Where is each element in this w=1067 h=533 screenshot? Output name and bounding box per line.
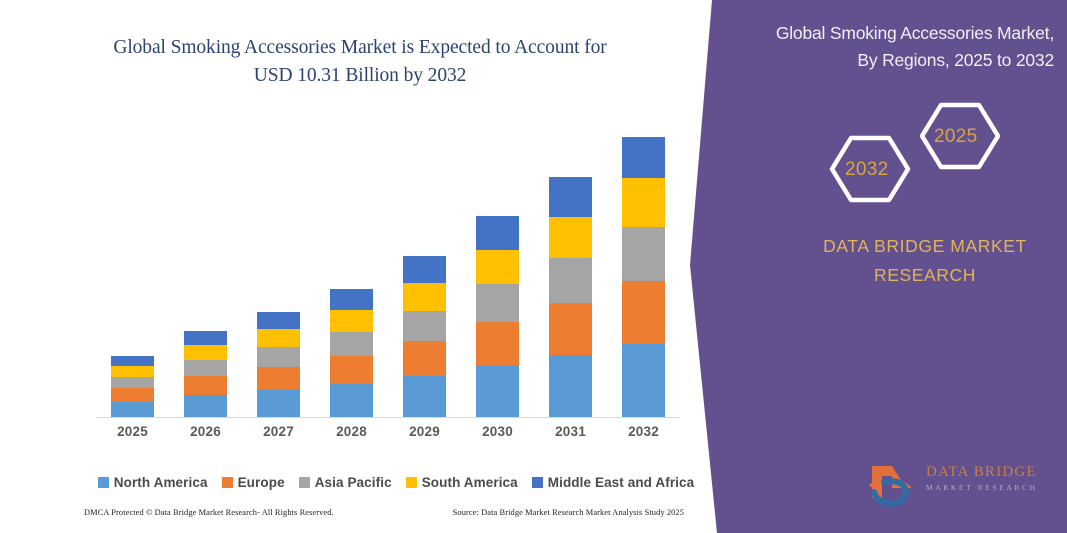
bar-segment (403, 376, 446, 418)
bar-segment (330, 289, 373, 310)
chart-title-line-2: USD 10.31 Billion by 2032 (40, 62, 680, 90)
data-bridge-logo-wordmark: DATA BRIDGE MARKET RESEARCH (926, 464, 1038, 494)
bar-segment (622, 281, 665, 344)
bar-segment (184, 345, 227, 360)
chart-title-line-1: Global Smoking Accessories Market is Exp… (113, 37, 606, 58)
bar-segment (403, 341, 446, 376)
stacked-bar-2030 (476, 216, 519, 418)
bar-segment (476, 322, 519, 366)
legend-item[interactable]: Europe (222, 475, 285, 490)
hexagon-label-2025: 2025 (934, 126, 977, 148)
bar-segment (111, 388, 154, 402)
bar-segment (622, 178, 665, 227)
chart-baseline (96, 417, 680, 418)
bar-segment (111, 402, 154, 418)
hexagon-outlines (810, 95, 1010, 205)
legend-item[interactable]: North America (98, 475, 208, 490)
legend-swatch-icon (532, 477, 543, 488)
bar-segment (330, 310, 373, 332)
chart-title: Global Smoking Accessories Market is Exp… (40, 34, 680, 90)
stacked-bar-2028 (330, 289, 373, 418)
stacked-bar-2027 (257, 312, 300, 418)
bar-segment (330, 384, 373, 418)
data-bridge-logo: DATA BRIDGE MARKET RESEARCH (866, 458, 1056, 510)
bar-segment (184, 395, 227, 418)
stacked-bar-2025 (111, 356, 154, 418)
legend-label: South America (422, 475, 518, 490)
footer-source-text: Source: Data Bridge Market Research Mark… (453, 508, 684, 517)
logo-word-market-research: MARKET RESEARCH (926, 481, 1038, 494)
bar-group-2027 (242, 312, 315, 418)
bar-segment (257, 329, 300, 347)
bar-segment (184, 376, 227, 395)
legend-label: Asia Pacific (315, 475, 392, 490)
legend-swatch-icon (222, 477, 233, 488)
chart-footer: DMCA Protected © Data Bridge Market Rese… (84, 508, 684, 517)
bar-segment (549, 258, 592, 303)
logo-word-data-bridge: DATA BRIDGE (926, 464, 1038, 481)
bar-segment (257, 312, 300, 329)
bar-group-2029 (388, 256, 461, 418)
stacked-bar-chart-plot-area (96, 118, 680, 418)
right-panel-title-line-1: Global Smoking Accessories Market, (742, 20, 1054, 47)
x-axis-label-2029: 2029 (388, 424, 461, 439)
bar-segment (111, 366, 154, 377)
legend-swatch-icon (406, 477, 417, 488)
legend-label: North America (114, 475, 208, 490)
footer-dmca-text: DMCA Protected © Data Bridge Market Rese… (84, 508, 334, 517)
x-axis-label-2026: 2026 (169, 424, 242, 439)
bar-group-2025 (96, 356, 169, 418)
bar-segment (330, 356, 373, 384)
stacked-bar-2029 (403, 256, 446, 418)
brand-name-line-1: DATA BRIDGE MARKET (800, 232, 1050, 261)
bar-segment (403, 283, 446, 311)
brand-name-text: DATA BRIDGE MARKET RESEARCH (800, 232, 1050, 290)
bar-segment (476, 216, 519, 250)
bar-segment (622, 344, 665, 418)
brand-name-line-2: RESEARCH (800, 261, 1050, 290)
legend-label: Europe (238, 475, 285, 490)
x-axis-label-2027: 2027 (242, 424, 315, 439)
stacked-bar-2032 (622, 137, 665, 418)
bar-segment (403, 256, 446, 283)
bar-segment (330, 332, 373, 356)
legend-item[interactable]: Asia Pacific (299, 475, 392, 490)
stacked-bar-2026 (184, 331, 227, 418)
bar-segment (111, 377, 154, 388)
bar-group-2026 (169, 331, 242, 418)
legend-item[interactable]: South America (406, 475, 518, 490)
hexagon-label-2032: 2032 (845, 159, 888, 181)
bar-segment (403, 311, 446, 341)
bar-segment (476, 284, 519, 322)
bar-segment (549, 177, 592, 217)
bar-segment (111, 356, 154, 366)
chart-legend: North AmericaEuropeAsia PacificSouth Ame… (96, 472, 696, 492)
bar-group-2028 (315, 289, 388, 418)
stacked-bar-2031 (549, 177, 592, 418)
bar-segment (257, 390, 300, 418)
hexagon-year-badges: 2025 2032 (810, 95, 1010, 205)
legend-swatch-icon (98, 477, 109, 488)
bar-group-2031 (534, 177, 607, 418)
bar-group-2030 (461, 216, 534, 418)
x-axis-labels: 20252026202720282029203020312032 (96, 424, 680, 446)
chart-panel: Global Smoking Accessories Market is Exp… (0, 0, 712, 533)
bar-segment (622, 227, 665, 281)
bar-segment (549, 217, 592, 258)
x-axis-label-2025: 2025 (96, 424, 169, 439)
right-panel-title-line-2: By Regions, 2025 to 2032 (742, 47, 1054, 74)
right-panel-title: Global Smoking Accessories Market, By Re… (742, 20, 1054, 74)
bar-segment (622, 137, 665, 178)
bar-segment (257, 347, 300, 367)
x-axis-label-2028: 2028 (315, 424, 388, 439)
bar-segment (184, 331, 227, 345)
bar-segment (549, 355, 592, 418)
bar-segment (184, 360, 227, 376)
bar-segment (257, 367, 300, 390)
legend-swatch-icon (299, 477, 310, 488)
bar-segment (476, 366, 519, 418)
bar-segment (549, 303, 592, 355)
x-axis-label-2030: 2030 (461, 424, 534, 439)
data-bridge-logo-mark-icon (866, 458, 922, 508)
bar-segment (476, 250, 519, 284)
x-axis-label-2031: 2031 (534, 424, 607, 439)
